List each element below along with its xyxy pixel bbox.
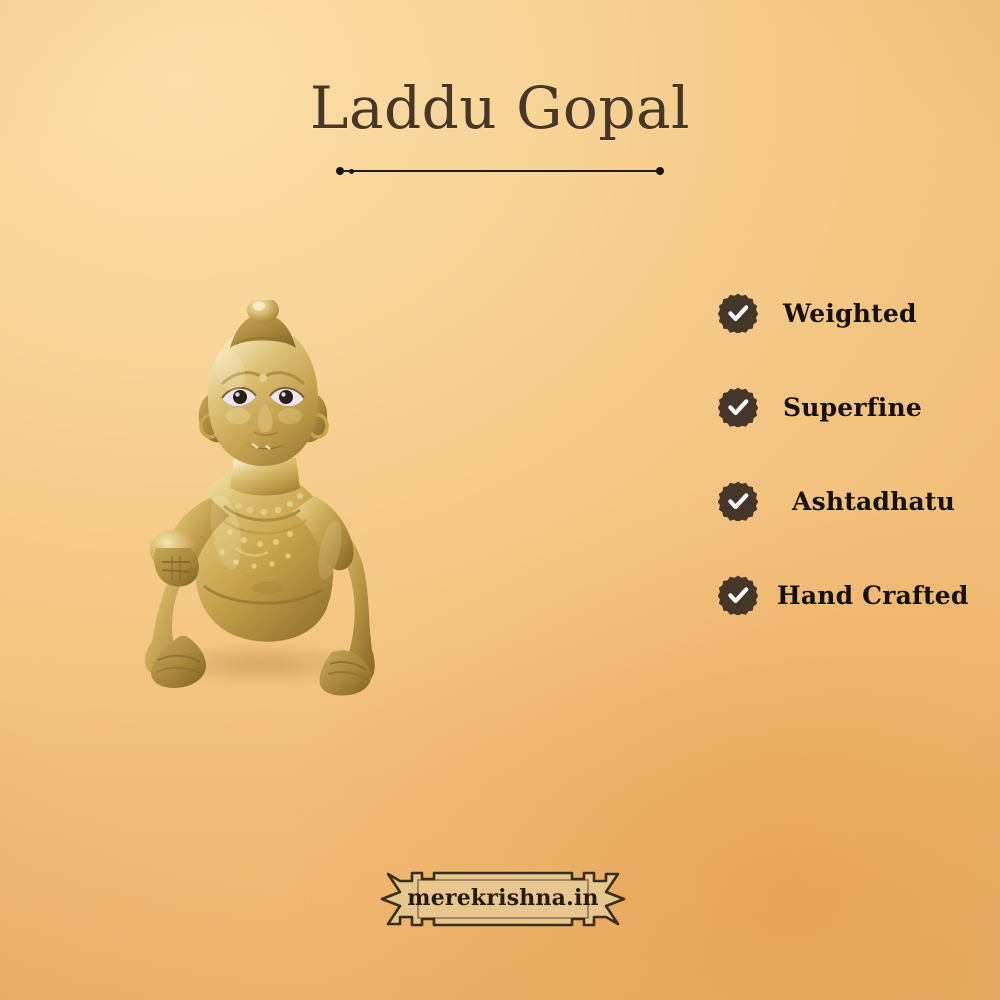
- feature-list: Weighted Superfine Ashtadhatu: [718, 292, 988, 616]
- title-divider: [336, 165, 664, 177]
- check-badge-icon: [718, 575, 758, 615]
- product-poster: Laddu Gopal: [0, 0, 1000, 1000]
- feature-label: Weighted: [783, 299, 917, 328]
- feature-label: Ashtadhatu: [792, 487, 955, 516]
- feature-item-weighted: Weighted: [718, 292, 988, 334]
- brand-name: merekrishna.in: [378, 885, 628, 911]
- feature-label: Superfine: [783, 393, 922, 422]
- feature-item-hand-crafted: Hand Crafted: [718, 574, 988, 616]
- brand-plaque[interactable]: merekrishna.in: [378, 868, 628, 930]
- feature-label: Hand Crafted: [777, 581, 969, 610]
- divider-dot-right: [656, 167, 664, 175]
- feature-item-superfine: Superfine: [718, 386, 988, 428]
- check-badge-icon: [718, 481, 758, 521]
- check-badge-icon: [718, 293, 758, 333]
- product-image-laddu-gopal: [118, 300, 408, 700]
- feature-item-ashtadhatu: Ashtadhatu: [718, 480, 988, 522]
- page-title: Laddu Gopal: [0, 78, 1000, 139]
- title-block: Laddu Gopal: [0, 78, 1000, 139]
- check-badge-icon: [718, 387, 758, 427]
- divider-line: [342, 170, 658, 172]
